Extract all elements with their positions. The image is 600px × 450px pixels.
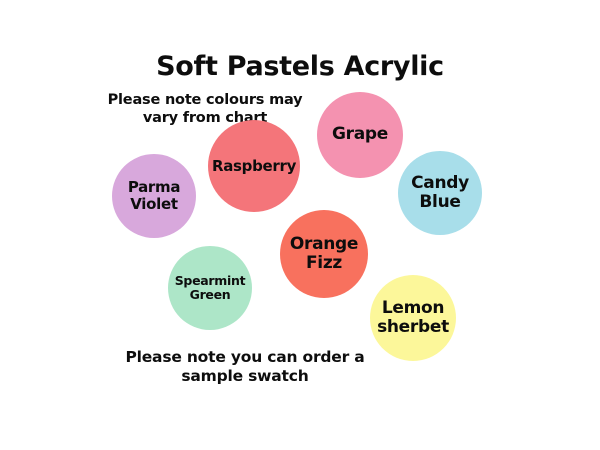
colour-swatch[interactable]: Grape xyxy=(317,92,403,178)
colour-swatch[interactable]: Orange Fizz xyxy=(280,210,368,298)
colour-swatch-label: Lemon sherbet xyxy=(370,299,456,337)
note-sample-swatch: Please note you can order a sample swatc… xyxy=(95,348,395,386)
colour-swatch[interactable]: Spearmint Green xyxy=(168,246,252,330)
colour-swatch-label: Candy Blue xyxy=(398,174,482,212)
colour-swatch[interactable]: Candy Blue xyxy=(398,151,482,235)
colour-swatch[interactable]: Parma Violet xyxy=(112,154,196,238)
colour-swatch[interactable]: Raspberry xyxy=(208,120,300,212)
note-colours-may-vary: Please note colours may vary from chart xyxy=(96,92,314,127)
colour-chart-canvas: Soft Pastels Acrylic Please note colours… xyxy=(0,0,600,450)
colour-swatch-label: Spearmint Green xyxy=(168,274,252,302)
colour-swatch-label: Orange Fizz xyxy=(280,235,368,273)
colour-swatch-label: Grape xyxy=(328,125,392,144)
page-title: Soft Pastels Acrylic xyxy=(0,52,600,82)
colour-swatch-label: Raspberry xyxy=(208,158,300,175)
colour-swatch-label: Parma Violet xyxy=(112,179,196,213)
